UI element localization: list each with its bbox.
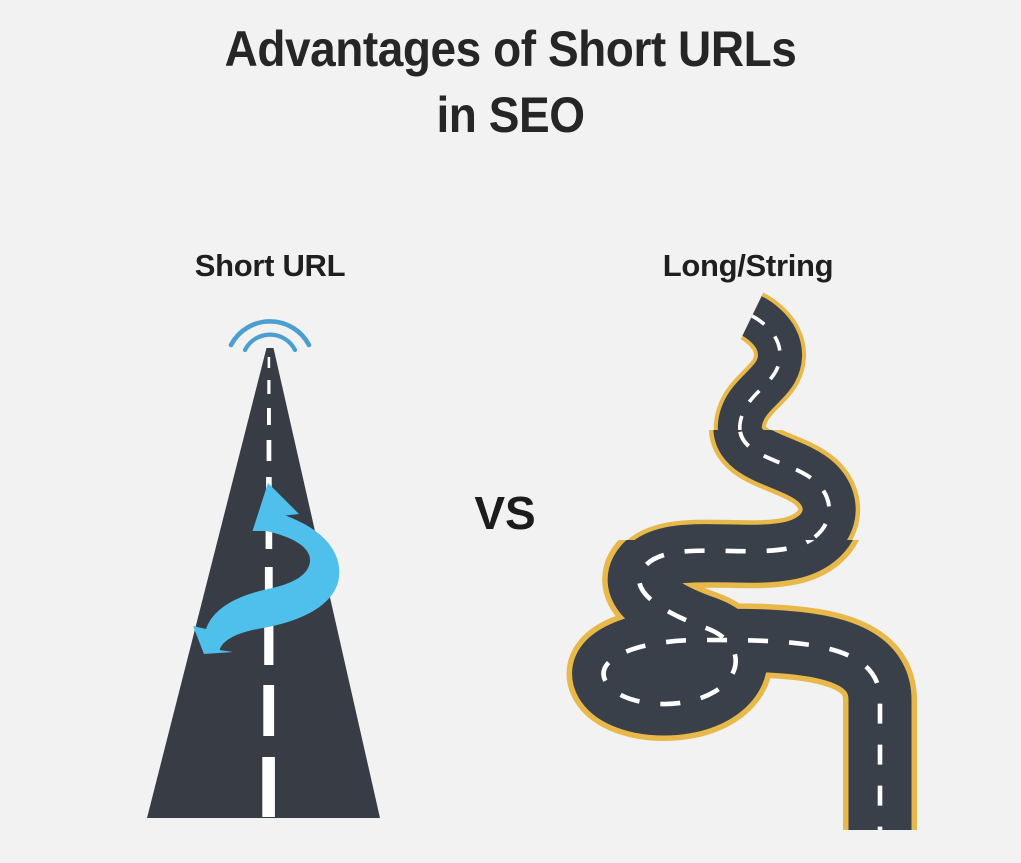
- winding-road-edge-lines: [604, 316, 880, 830]
- infographic-canvas: Advantages of Short URLs in SEO: [0, 0, 1021, 863]
- straight-road-lane-dashes: [262, 357, 275, 817]
- curved-arrow-body: [193, 483, 339, 654]
- page-title: Advantages of Short URLs in SEO: [41, 16, 980, 148]
- caption-long-string: Long/String: [598, 248, 898, 284]
- title-line-1: Advantages of Short URLs: [41, 16, 980, 82]
- signal-wave-inner: [245, 335, 295, 350]
- signal-waves-icon: [231, 321, 309, 350]
- curved-arrow-icon: [193, 483, 339, 654]
- winding-road-lane-dashes: [604, 316, 880, 830]
- winding-road-surface: [604, 316, 880, 830]
- straight-road-surface: [147, 348, 380, 818]
- signal-wave-outer: [231, 321, 309, 345]
- caption-short-url: Short URL: [120, 248, 420, 284]
- versus-label: VS: [435, 486, 575, 540]
- title-line-2: in SEO: [41, 82, 980, 148]
